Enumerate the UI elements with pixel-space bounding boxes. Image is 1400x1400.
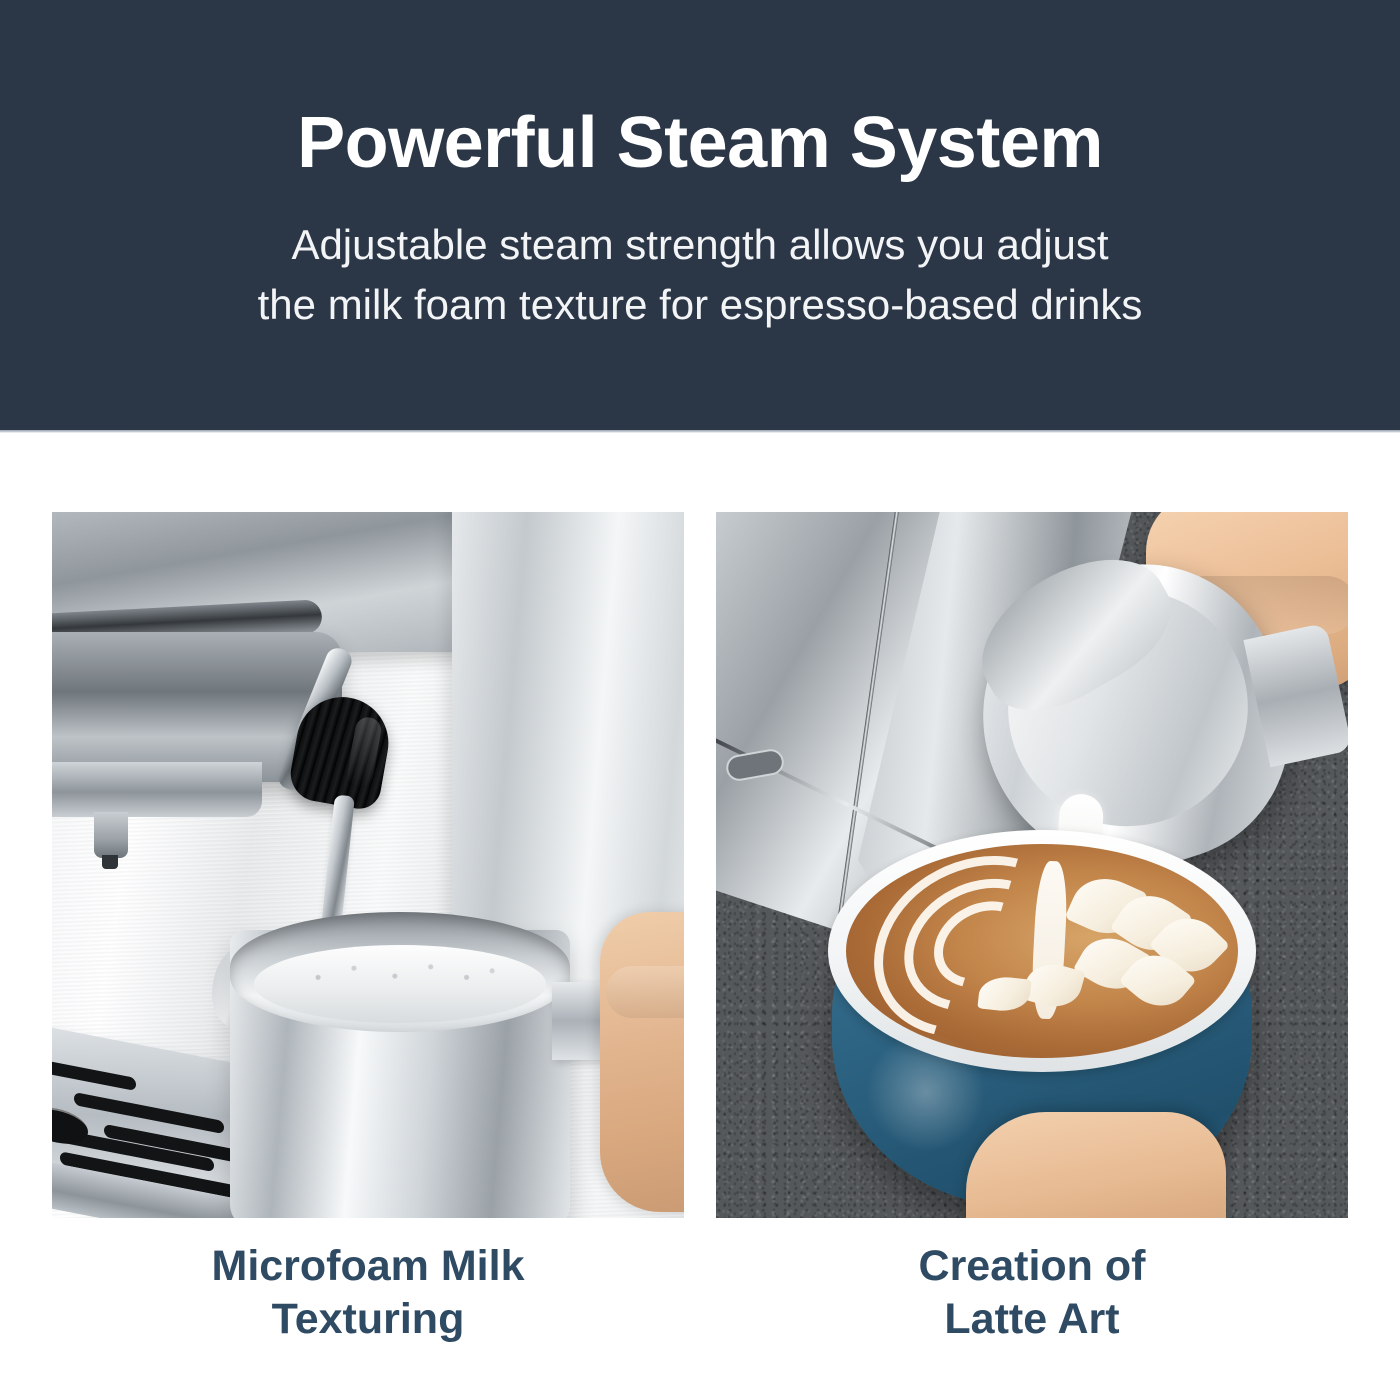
photo-latte-art-pour	[716, 512, 1348, 1218]
frothed-milk-surface	[254, 945, 546, 1023]
hand-holding-cup	[966, 1112, 1226, 1218]
steam-wisp	[866, 1032, 986, 1152]
portafilter-spout	[94, 812, 128, 858]
panel-microfoam-milk-texturing	[52, 512, 684, 1218]
subtitle-line-1: Adjustable steam strength allows you adj…	[258, 215, 1143, 275]
caption-creation-of-latte-art: Creation of Latte Art	[716, 1240, 1348, 1347]
page-title: Powerful Steam System	[297, 106, 1103, 182]
caption-microfoam-milk-texturing: Microfoam Milk Texturing	[52, 1240, 684, 1347]
caption-line-1: Creation of	[716, 1240, 1348, 1293]
drip-tray-slot	[74, 1092, 224, 1134]
caption-line-2: Latte Art	[716, 1293, 1348, 1346]
caption-line-1: Microfoam Milk	[52, 1240, 684, 1293]
header-banner: Powerful Steam System Adjustable steam s…	[0, 0, 1400, 430]
infographic-page: Powerful Steam System Adjustable steam s…	[0, 0, 1400, 1400]
photo-steam-wand-milk-pitcher	[52, 512, 684, 1218]
caption-line-2: Texturing	[52, 1293, 684, 1346]
drip-tray-slot	[52, 1055, 136, 1091]
hand-holding-pitcher	[600, 912, 684, 1212]
portafilter-spout-tip	[102, 855, 118, 869]
panel-creation-of-latte-art	[716, 512, 1348, 1218]
group-head-lip	[52, 762, 262, 817]
coffee-surface-latte-art	[846, 844, 1238, 1058]
subtitle-line-2: the milk foam texture for espresso-based…	[258, 275, 1143, 335]
page-subtitle: Adjustable steam strength allows you adj…	[258, 215, 1143, 334]
